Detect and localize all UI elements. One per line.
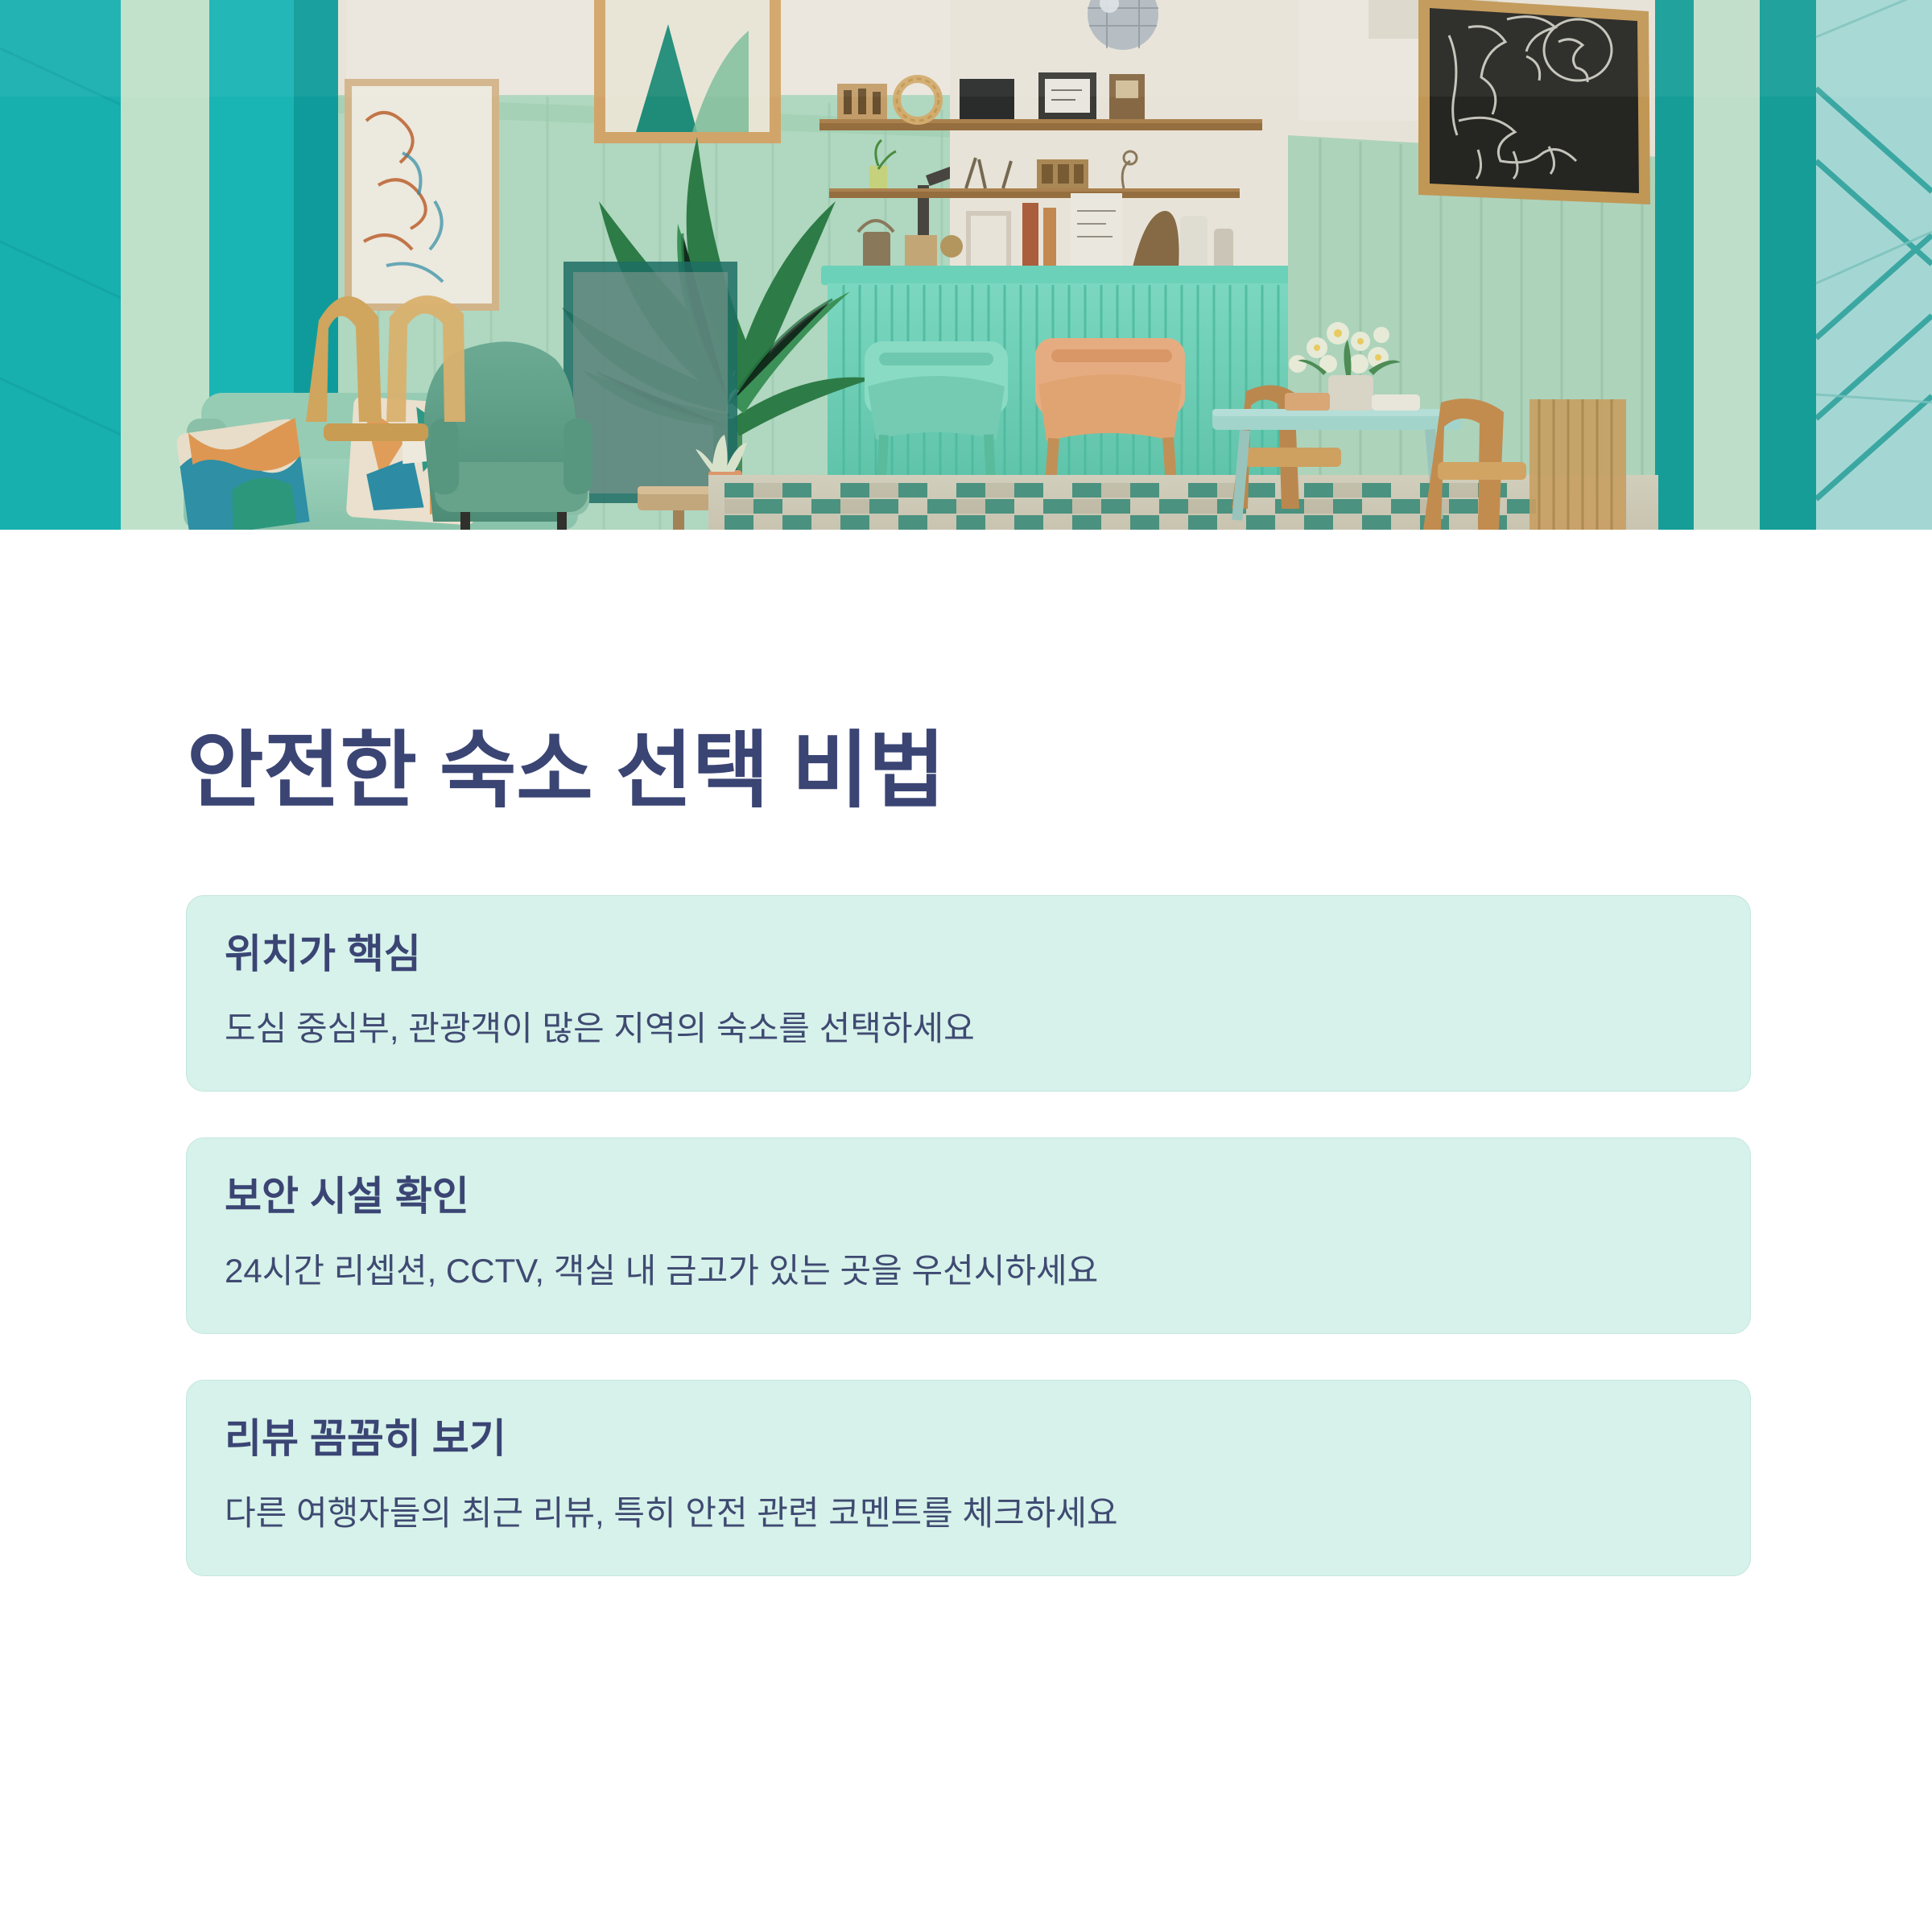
hero-image: [0, 0, 1932, 530]
tip-description: 도심 중심부, 관광객이 많은 지역의 숙소를 선택하세요: [225, 1005, 1712, 1054]
tips-list: 위치가 핵심 도심 중심부, 관광객이 많은 지역의 숙소를 선택하세요 보안 …: [186, 895, 1751, 1576]
page-root: 안전한 숙소 선택 비법 위치가 핵심 도심 중심부, 관광객이 많은 지역의 …: [0, 0, 1932, 1932]
tip-title: 위치가 핵심: [225, 930, 1712, 979]
tip-title: 리뷰 꼼꼼히 보기: [225, 1414, 1712, 1463]
page-title: 안전한 숙소 선택 비법: [187, 729, 945, 813]
tip-description: 다른 여행자들의 최근 리뷰, 특히 안전 관련 코멘트를 체크하세요: [225, 1489, 1712, 1538]
tip-description: 24시간 리셉션, CCTV, 객실 내 금고가 있는 곳을 우선시하세요: [225, 1247, 1712, 1296]
tip-card-security[interactable]: 보안 시설 확인 24시간 리셉션, CCTV, 객실 내 금고가 있는 곳을 …: [186, 1137, 1751, 1334]
hostel-lounge-illustration: [0, 0, 1932, 530]
tip-card-location[interactable]: 위치가 핵심 도심 중심부, 관광객이 많은 지역의 숙소를 선택하세요: [186, 895, 1751, 1092]
tip-title: 보안 시설 확인: [225, 1172, 1712, 1221]
tip-card-reviews[interactable]: 리뷰 꼼꼼히 보기 다른 여행자들의 최근 리뷰, 특히 안전 관련 코멘트를 …: [186, 1380, 1751, 1576]
